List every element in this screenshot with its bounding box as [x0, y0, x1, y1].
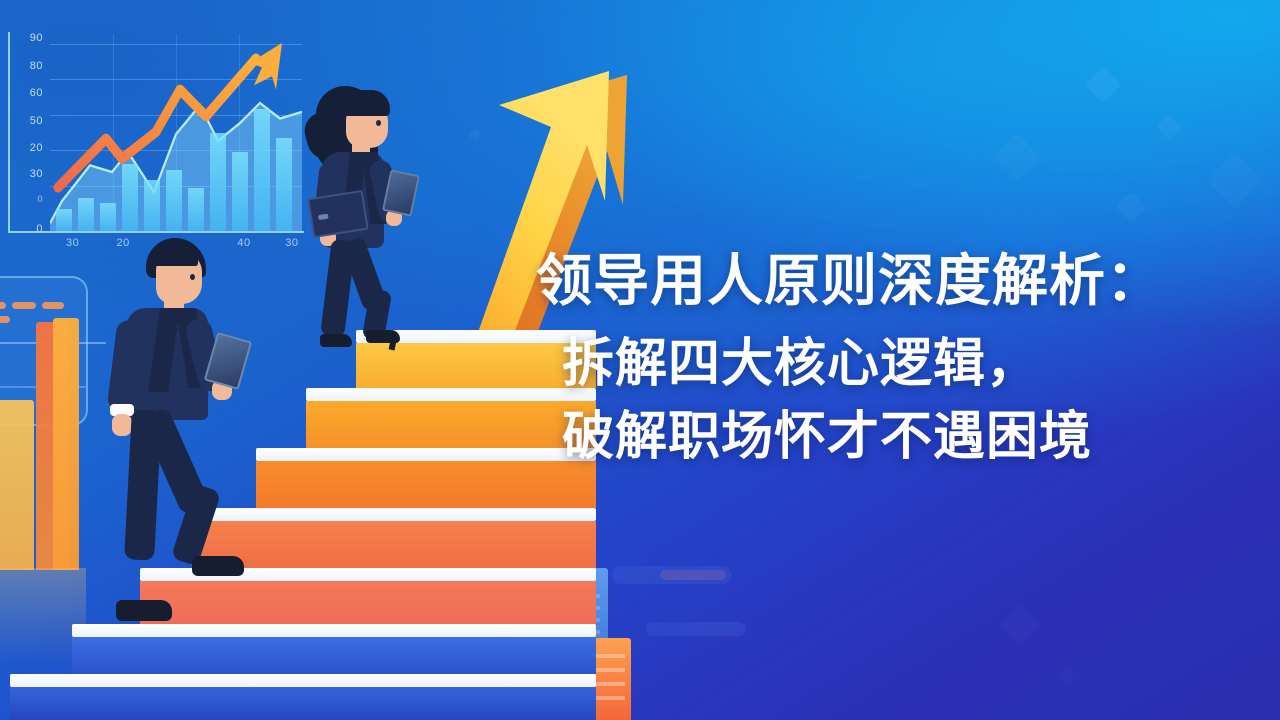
chart-bar [53, 318, 79, 570]
y-axis-tick: 0 [36, 223, 43, 235]
hair [340, 90, 390, 116]
chart-plot-area: 90 80 60 50 20 30 0 0 30 20 30 40 30 [50, 34, 302, 231]
diamond-shape [993, 133, 1041, 181]
x-axis-line [8, 231, 304, 233]
y-axis-tick: 30 [30, 168, 43, 180]
poster-title: 领导用人原则深度解析： 拆解四大核心逻辑， 破解职场怀才不遇困境 [536, 248, 1236, 474]
businesswoman-figure [300, 78, 460, 348]
diamond-shape [1085, 67, 1122, 104]
shoe [320, 334, 352, 347]
panel-pill [12, 302, 36, 309]
businessman-figure [104, 238, 294, 638]
hair [150, 246, 198, 266]
poster-canvas: 90 80 60 50 20 30 0 0 30 20 30 40 30 [0, 0, 1280, 720]
y-axis-tick: 90 [30, 32, 43, 44]
y-axis-tick: 50 [30, 115, 43, 127]
y-axis-tick: 0 [37, 194, 43, 204]
diamond-shape [1207, 152, 1264, 209]
y-axis-line [8, 32, 10, 233]
soft-blob [660, 570, 726, 580]
panel-pill [0, 302, 6, 309]
hand [112, 414, 132, 436]
soft-blob [646, 622, 746, 636]
diamond-shape [1115, 191, 1146, 222]
y-axis-tick: 20 [30, 142, 43, 154]
eye [190, 274, 195, 280]
eye [376, 120, 381, 126]
diamond-shape [1059, 665, 1082, 688]
x-axis-tick: 30 [66, 237, 79, 249]
shoe [116, 600, 172, 621]
diamond-shape [1156, 114, 1181, 139]
shoe [192, 556, 244, 576]
panel-pill [42, 302, 64, 309]
diamond-shape [999, 604, 1041, 646]
chart-bar [0, 400, 34, 570]
y-axis-tick: 80 [30, 60, 43, 72]
title-line-2: 拆解四大核心逻辑， [536, 328, 1236, 401]
title-line-3: 破解职场怀才不遇困境 [536, 401, 1236, 474]
y-axis-tick: 60 [30, 87, 43, 99]
chart-trend-line [50, 34, 302, 231]
chart-top-left: 90 80 60 50 20 30 0 0 30 20 30 40 30 [8, 26, 308, 261]
panel-pill [0, 316, 10, 323]
stair-step [10, 674, 596, 720]
title-line-1: 领导用人原则深度解析： [536, 248, 1236, 314]
